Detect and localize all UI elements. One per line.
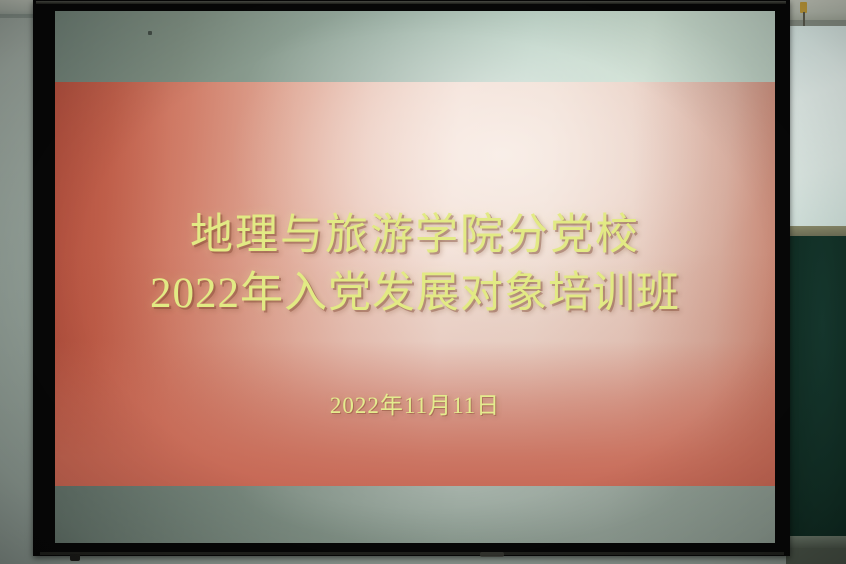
slide-date: 2022年11月11日 — [55, 391, 775, 421]
frame-foot-right — [480, 552, 504, 557]
wall-hook-wire — [803, 12, 805, 26]
whiteboard — [790, 26, 846, 226]
right-wall-upper-trim — [786, 0, 846, 22]
screenshot-root: 地理与旅游学院分党校 2022年入党发展对象培训班 2022年11月11日 — [0, 0, 846, 564]
right-wall-lower — [786, 548, 846, 564]
slide-bottom-band-glow — [55, 486, 775, 543]
chalkboard-ledge — [786, 536, 846, 548]
chalkboard — [788, 236, 846, 538]
slide-title-line-1: 地理与旅游学院分党校 — [55, 207, 775, 265]
projected-slide: 地理与旅游学院分党校 2022年入党发展对象培训班 2022年11月11日 — [55, 11, 775, 543]
frame-bottom-highlight — [40, 552, 784, 555]
slide-title-line-2: 2022年入党发展对象培训班 — [55, 265, 775, 323]
whiteboard-ledge — [786, 226, 846, 236]
frame-top-highlight — [36, 1, 786, 4]
slide-title-block: 地理与旅游学院分党校 2022年入党发展对象培训班 — [55, 207, 775, 323]
screen-speck — [148, 31, 152, 35]
frame-foot-left — [70, 554, 80, 561]
slide-top-band-glow — [55, 11, 775, 82]
